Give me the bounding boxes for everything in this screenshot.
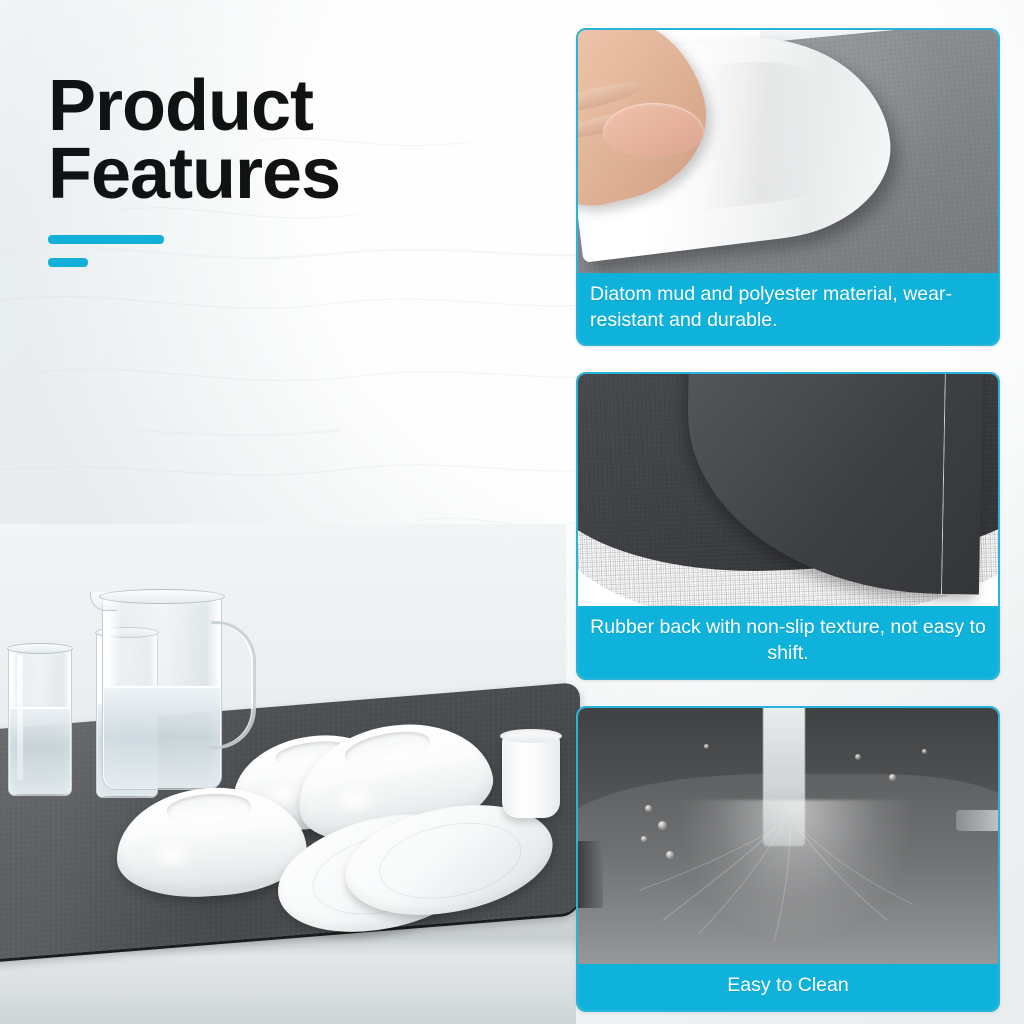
glass-tumbler-left <box>8 646 72 796</box>
bubble <box>666 851 674 859</box>
water-bubbles <box>578 708 998 964</box>
title-underline-long <box>48 235 164 244</box>
caption-material: Diatom mud and polyester material, wear-… <box>578 273 998 344</box>
page-title-line-2: Features <box>48 134 340 214</box>
bubble <box>645 805 652 812</box>
pitcher-water <box>104 686 220 788</box>
feature-card-material[interactable]: Diatom mud and polyester material, wear-… <box>576 28 1000 346</box>
glass-highlight <box>17 655 23 781</box>
photo-material <box>578 30 998 273</box>
ceramic-cup <box>502 734 560 818</box>
cup-body <box>502 734 560 818</box>
caption-easy-clean: Easy to Clean <box>578 964 998 1010</box>
glass-rim <box>7 643 73 654</box>
bubble <box>641 836 647 842</box>
bubble <box>889 774 896 781</box>
page-title: Product Features <box>48 72 518 209</box>
photo-easy-clean <box>578 708 998 964</box>
feature-card-list: Diatom mud and polyester material, wear-… <box>576 28 1000 1024</box>
water-pitcher <box>102 594 222 790</box>
title-underline-group <box>48 235 518 267</box>
cup-rim <box>500 729 562 743</box>
bubble <box>922 749 927 754</box>
thumbnail <box>603 103 704 156</box>
title-underline-short <box>48 258 88 267</box>
feature-card-easy-clean[interactable]: Easy to Clean <box>576 706 1000 1012</box>
feature-card-rubber-back[interactable]: Rubber back with non-slip texture, not e… <box>576 372 1000 679</box>
pitcher-handle <box>211 621 256 749</box>
bubble <box>658 821 667 830</box>
page-title-block: Product Features <box>48 72 518 267</box>
product-scene <box>0 524 566 1024</box>
caption-rubber-back: Rubber back with non-slip texture, not e… <box>578 606 998 677</box>
pitcher-rim <box>99 589 225 604</box>
infographic-stage: Product Features <box>0 0 1024 1024</box>
bubble <box>855 754 861 760</box>
photo-rubber-back <box>578 374 998 606</box>
bubble <box>704 744 709 749</box>
